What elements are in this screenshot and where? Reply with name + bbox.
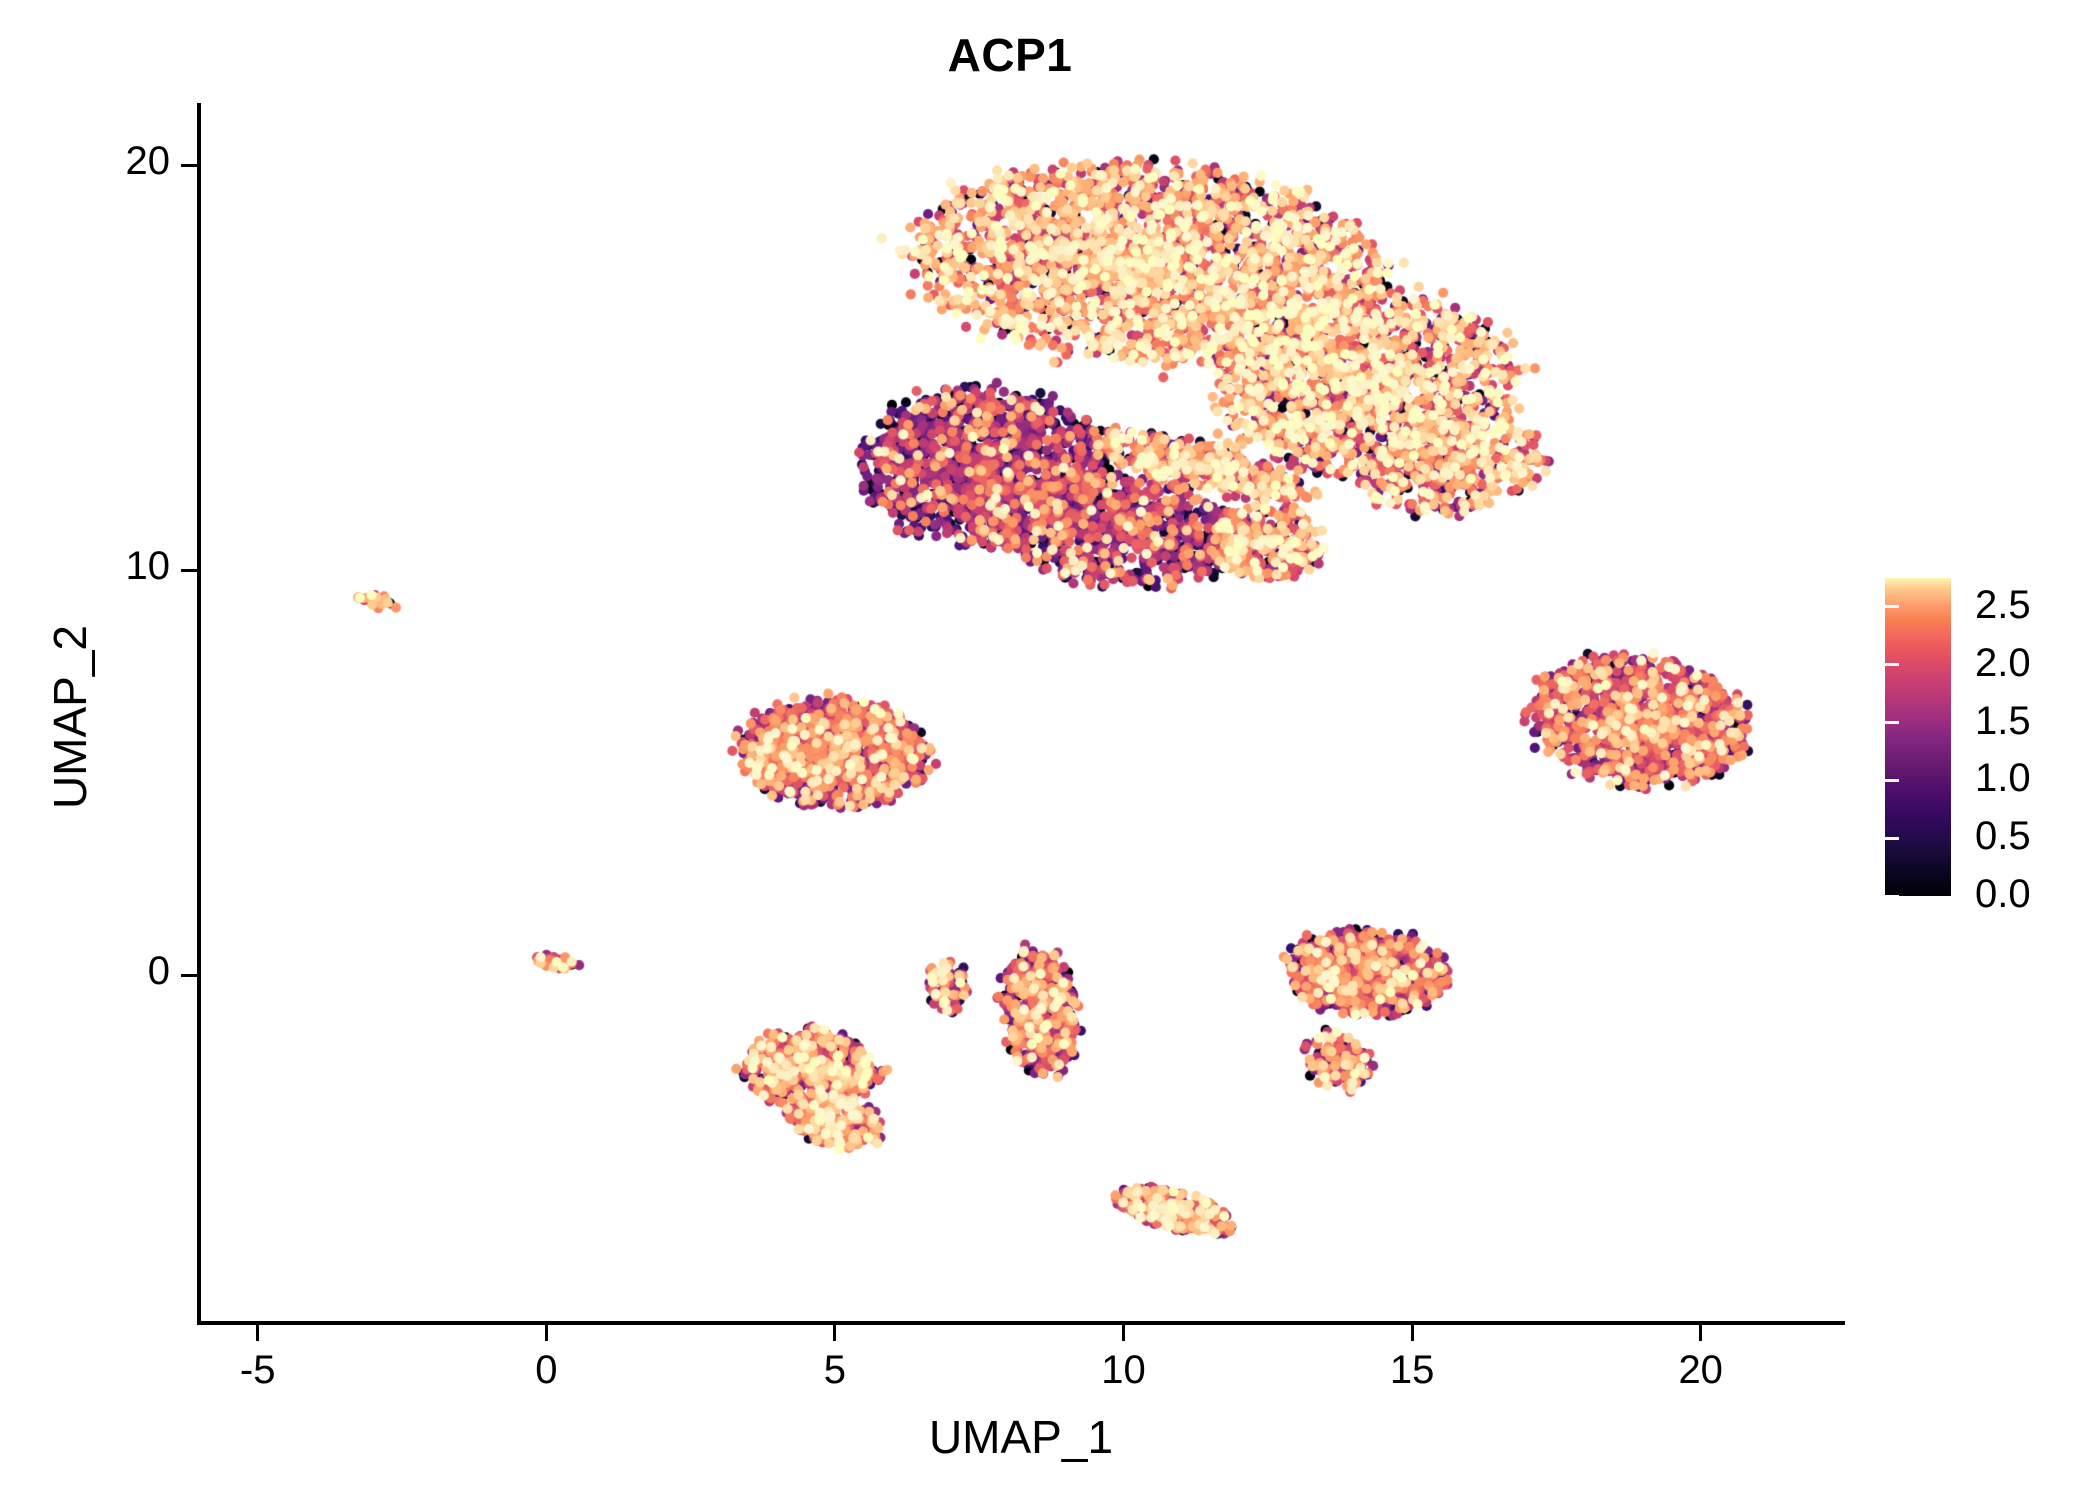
y-tick-mark: [181, 569, 197, 572]
x-tick-label: 10: [1054, 1348, 1194, 1393]
colorbar-legend[interactable]: 2.52.01.51.00.50.0: [1885, 578, 2085, 908]
colorbar-tick-mark: [1885, 837, 1899, 840]
feature-plot-root: ACP1 -505101520 01020 UMAP_1 UMAP_2 2.52…: [0, 0, 2100, 1500]
x-tick-label: -5: [188, 1348, 328, 1393]
colorbar-tick-label: 1.0: [1975, 758, 2100, 798]
y-tick-mark: [181, 164, 197, 167]
x-axis-line: [197, 1321, 1845, 1325]
colorbar-tick-mark: [1885, 605, 1899, 608]
x-tick-mark: [833, 1325, 836, 1341]
x-tick-label: 15: [1342, 1348, 1482, 1393]
colorbar-gradient: [1885, 578, 1951, 896]
x-tick-label: 5: [765, 1348, 905, 1393]
colorbar-tick-label: 0.5: [1975, 816, 2100, 856]
plot-panel[interactable]: [200, 105, 1845, 1320]
x-tick-label: 20: [1631, 1348, 1771, 1393]
colorbar-tick-label: 2.0: [1975, 643, 2100, 683]
page-title: ACP1: [0, 28, 2020, 82]
y-tick-label: 20: [0, 139, 170, 184]
x-tick-mark: [256, 1325, 259, 1341]
x-tick-mark: [1411, 1325, 1414, 1341]
y-tick-mark: [181, 974, 197, 977]
colorbar-tick-label: 0.0: [1975, 874, 2100, 914]
x-tick-mark: [1699, 1325, 1702, 1341]
colorbar-tick-mark: [1885, 779, 1899, 782]
colorbar-tick-label: 1.5: [1975, 701, 2100, 741]
colorbar-tick-label: 2.5: [1975, 585, 2100, 625]
x-tick-label: 0: [476, 1348, 616, 1393]
y-axis-title: UMAP_2: [43, 367, 97, 1067]
colorbar-tick-mark: [1885, 663, 1899, 666]
y-axis-line: [197, 103, 201, 1325]
x-axis-title: UMAP_1: [197, 1410, 1845, 1464]
x-tick-mark: [1122, 1325, 1125, 1341]
colorbar-tick-mark: [1885, 895, 1899, 898]
scatter-points-canvas[interactable]: [200, 105, 1845, 1320]
colorbar-tick-mark: [1885, 721, 1899, 724]
x-tick-mark: [545, 1325, 548, 1341]
